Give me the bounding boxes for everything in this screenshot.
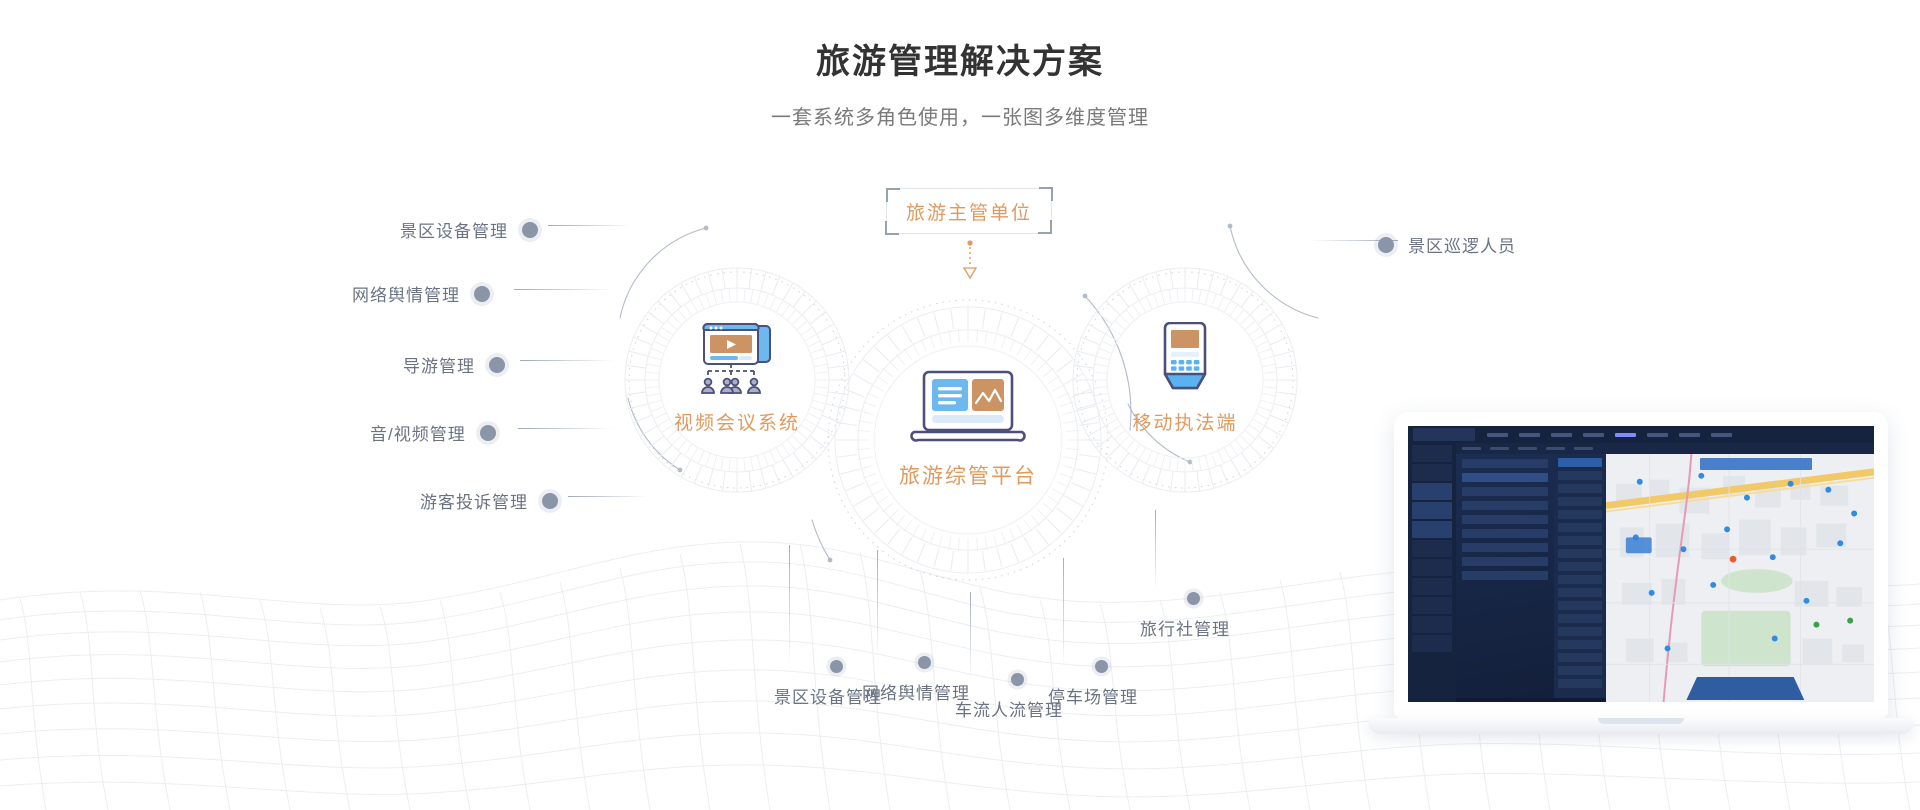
- mock-sidebar-item: [1412, 616, 1452, 633]
- mock-layer-item: [1558, 666, 1602, 675]
- node-dot[interactable]: [489, 357, 505, 373]
- page-title: 旅游管理解决方案: [0, 42, 1920, 83]
- node-dot[interactable]: [830, 660, 843, 673]
- hub-video-conference[interactable]: 视频会议系统: [617, 260, 857, 500]
- laptop-dashboard-icon: [910, 368, 1026, 450]
- mock-layer-item: [1558, 575, 1602, 584]
- mock-layer-item: [1558, 627, 1602, 636]
- mock-layer-item: [1558, 679, 1602, 688]
- authority-box[interactable]: 旅游主管单位: [886, 188, 1052, 234]
- node-dot[interactable]: [918, 656, 931, 669]
- mock-layer-item: [1558, 614, 1602, 623]
- mock-sidebar-item: [1412, 540, 1452, 557]
- node-bottom-1-label: 网络舆情管理: [862, 679, 970, 704]
- solution-diagram-page: 旅游管理解决方案 一套系统多角色使用，一张图多维度管理: [0, 0, 1920, 810]
- header: 旅游管理解决方案 一套系统多角色使用，一张图多维度管理: [0, 0, 1920, 130]
- mock-layer-item: [1558, 497, 1602, 506]
- node-left-1[interactable]: 网络舆情管理: [352, 281, 490, 306]
- mock-layer-item: [1558, 588, 1602, 597]
- mock-nav-item: [1711, 433, 1732, 437]
- mock-map: [1606, 454, 1874, 702]
- node-right-0-label: 景区巡逻人员: [1408, 232, 1516, 257]
- mock-sidebar-item: [1412, 445, 1452, 462]
- mock-tree-row: [1462, 557, 1548, 566]
- mock-tree-row: [1462, 571, 1548, 580]
- mock-nav-item-active: [1615, 433, 1636, 437]
- connector-left-3: [518, 428, 614, 429]
- node-left-2[interactable]: 导游管理: [403, 352, 505, 377]
- mock-sidebar-item-active: [1412, 521, 1452, 538]
- node-dot[interactable]: [1187, 592, 1200, 605]
- node-dot[interactable]: [542, 493, 558, 509]
- mock-tab: [1490, 447, 1509, 450]
- node-bottom-2-label: 车流人流管理: [955, 696, 1063, 721]
- mock-layer-item: [1558, 640, 1602, 649]
- node-left-3-label: 音/视频管理: [370, 420, 466, 445]
- mock-layer-item-selected: [1558, 458, 1602, 467]
- authority-label: 旅游主管单位: [906, 198, 1032, 225]
- mock-sidebar-item: [1412, 464, 1452, 481]
- mock-nav-item: [1647, 433, 1668, 437]
- mock-sidebar: [1408, 443, 1456, 702]
- node-left-4-label: 游客投诉管理: [420, 488, 528, 513]
- handheld-terminal-icon: [1155, 322, 1215, 398]
- mock-nav-item: [1583, 433, 1604, 437]
- mock-layer-item: [1558, 653, 1602, 662]
- node-left-0[interactable]: 景区设备管理: [400, 217, 538, 242]
- mock-layer-item: [1558, 510, 1602, 519]
- mock-map-searchbar: [1700, 458, 1813, 470]
- node-left-1-label: 网络舆情管理: [352, 281, 460, 306]
- mock-topbar: [1408, 426, 1874, 443]
- page-subtitle: 一套系统多角色使用，一张图多维度管理: [0, 101, 1920, 130]
- node-dot[interactable]: [480, 425, 496, 441]
- node-left-0-label: 景区设备管理: [400, 217, 508, 242]
- node-dot[interactable]: [1095, 660, 1108, 673]
- node-dot[interactable]: [1378, 237, 1394, 253]
- mock-tab: [1518, 447, 1537, 450]
- mock-tab: [1574, 447, 1593, 450]
- hub-tourism-platform-label: 旅游综管平台: [899, 460, 1037, 490]
- mock-sidebar-item-active: [1412, 502, 1452, 519]
- laptop-notch: [1598, 718, 1684, 724]
- hub-mobile-enforcement-content: 移动执法端: [1065, 322, 1305, 435]
- mock-map-dock: [1686, 677, 1804, 700]
- mock-layer-item: [1558, 471, 1602, 480]
- node-dot[interactable]: [1011, 673, 1024, 686]
- mock-tree-row-selected: [1462, 473, 1548, 482]
- node-dot[interactable]: [474, 286, 490, 302]
- connector-left-2: [520, 360, 614, 361]
- hub-video-conference-content: 视频会议系统: [617, 322, 857, 435]
- node-bottom-3[interactable]: 停车场管理: [1056, 660, 1146, 708]
- mock-nav-item: [1551, 433, 1572, 437]
- mock-nav-item: [1519, 433, 1540, 437]
- mock-tab: [1462, 447, 1481, 450]
- connector-left-0: [548, 225, 630, 226]
- mock-sidebar-item: [1412, 559, 1452, 576]
- mock-tree-row: [1462, 501, 1548, 510]
- mock-tree-row: [1462, 543, 1548, 552]
- mock-layer-list: [1554, 454, 1606, 698]
- mock-sidebar-item: [1412, 578, 1452, 595]
- hub-mobile-enforcement-label: 移动执法端: [1132, 408, 1237, 435]
- mock-tree-row: [1462, 459, 1548, 468]
- authority-connector-arrow: [960, 240, 980, 282]
- mock-map-graphic: [1606, 454, 1874, 702]
- node-left-3[interactable]: 音/视频管理: [370, 420, 496, 445]
- node-left-4[interactable]: 游客投诉管理: [420, 488, 558, 513]
- mock-layer-item: [1558, 562, 1602, 571]
- mock-nav-item: [1487, 433, 1508, 437]
- connector-bottom-0: [789, 545, 790, 665]
- hub-video-conference-label: 视频会议系统: [674, 408, 800, 435]
- mock-tab: [1546, 447, 1565, 450]
- laptop-lid: [1394, 412, 1888, 718]
- node-dot[interactable]: [522, 222, 538, 238]
- mock-layer-item: [1558, 536, 1602, 545]
- laptop-mockup: [1368, 412, 1914, 772]
- mock-tree-row: [1462, 487, 1548, 496]
- node-right-0[interactable]: 景区巡逻人员: [1378, 232, 1516, 257]
- mock-layer-item: [1558, 549, 1602, 558]
- mock-sidebar-item-active: [1412, 483, 1452, 500]
- mock-layer-item: [1558, 523, 1602, 532]
- mock-tree-row: [1462, 515, 1548, 524]
- hub-mobile-enforcement[interactable]: 移动执法端: [1065, 260, 1305, 500]
- mock-logo: [1413, 428, 1475, 441]
- mock-tree-panel: [1456, 454, 1554, 698]
- node-bottom-4-label: 旅行社管理: [1140, 615, 1230, 640]
- connector-left-1: [514, 289, 612, 290]
- mock-tree-row: [1462, 529, 1548, 538]
- connector-bottom-4: [1155, 510, 1156, 590]
- mock-tabbar: [1456, 443, 1874, 454]
- node-left-2-label: 导游管理: [403, 352, 475, 377]
- video-window-people-icon: [694, 322, 780, 398]
- mock-nav: [1487, 433, 1732, 437]
- mock-layer-item: [1558, 601, 1602, 610]
- laptop-screen: [1408, 426, 1874, 702]
- mock-nav-item: [1679, 433, 1700, 437]
- mock-layer-item: [1558, 484, 1602, 493]
- mock-sidebar-item: [1412, 635, 1452, 652]
- node-bottom-3-label: 停车场管理: [1048, 683, 1138, 708]
- node-bottom-4[interactable]: 旅行社管理: [1148, 592, 1238, 640]
- mock-sidebar-item: [1412, 597, 1452, 614]
